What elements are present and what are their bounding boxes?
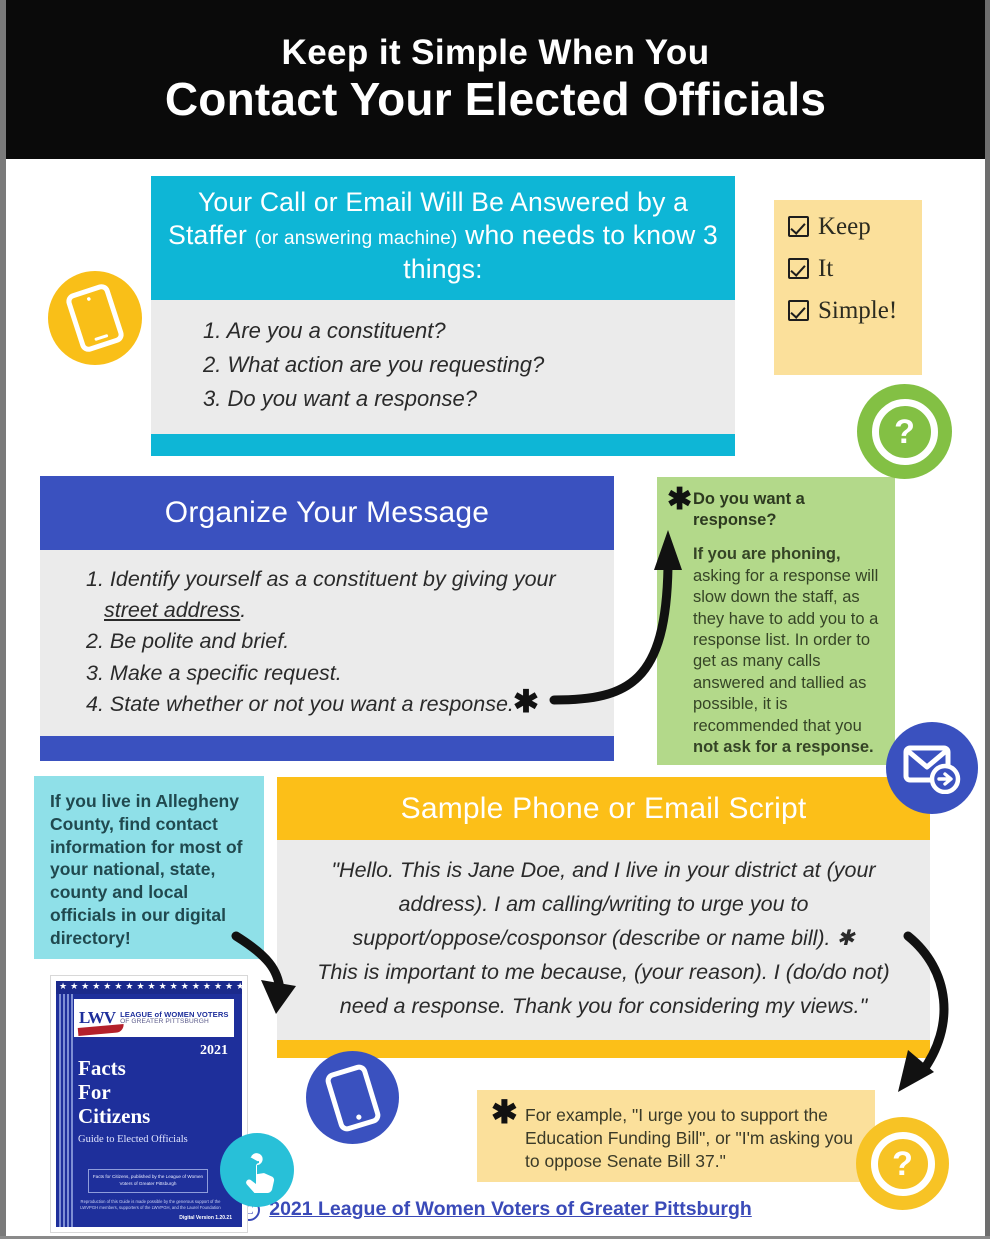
- list-item: 3. Do you want a response?: [203, 382, 735, 416]
- email-send-icon: [886, 722, 978, 814]
- booklet-cover: ★★★★★★★★★★★★★★★★★★★★★★ LWV LEAGUE of WOM…: [56, 981, 242, 1227]
- phone-icon: [48, 271, 142, 365]
- checklist-row[interactable]: It: [788, 256, 922, 281]
- copyright-link[interactable]: 2021 League of Women Voters of Greater P…: [269, 1198, 752, 1221]
- lwv-org-name: LEAGUE of WOMEN VOTERS OF GREATER PITTSB…: [120, 1011, 229, 1026]
- checkbox-checked-icon[interactable]: [788, 258, 809, 279]
- three-things-title-paren: (or answering machine): [255, 228, 458, 249]
- keep-it-simple-checklist: Keep It Simple!: [774, 200, 922, 375]
- header-line-1: Keep it Simple When You: [282, 34, 710, 71]
- example-note-card: ✱ For example, "I urge you to support th…: [477, 1090, 875, 1182]
- lwv-org-line2: OF GREATER PITTSBURGH: [120, 1019, 229, 1026]
- checklist-label: Keep: [818, 214, 871, 239]
- facts-for-citizens-booklet[interactable]: ★★★★★★★★★★★★★★★★★★★★★★ LWV LEAGUE of WOM…: [50, 975, 248, 1233]
- booklet-title: Facts For Citizens: [78, 1057, 150, 1129]
- checklist-row[interactable]: Simple!: [788, 298, 922, 323]
- booklet-title-line2: For: [78, 1081, 150, 1105]
- sample-script-footer-band: [277, 1040, 930, 1058]
- three-things-header: Your Call or Email Will Be Answered by a…: [151, 176, 735, 300]
- three-things-list: 1. Are you a constituent? 2. What action…: [151, 314, 735, 416]
- response-note-body: If you are phoning, asking for a respons…: [693, 544, 885, 758]
- click-hand-icon[interactable]: [220, 1133, 294, 1207]
- script-line: support/oppose/cosponsor (describe or na…: [295, 922, 912, 956]
- example-note-text: For example, "I urge you to support the …: [525, 1104, 863, 1173]
- question-mark-icon: ?: [857, 384, 952, 479]
- arrow-to-booklet: [228, 928, 308, 1018]
- phone-icon: [306, 1051, 399, 1144]
- question-mark-glyph: ?: [871, 1132, 935, 1196]
- script-line: need a response. Thank you for consideri…: [295, 990, 912, 1024]
- asterisk-marker-organize: ✱: [513, 686, 539, 717]
- list-item-suffix: .: [240, 598, 246, 622]
- booklet-title-line3: Citizens: [78, 1105, 150, 1129]
- booklet-stripes: [59, 994, 73, 1227]
- script-line: This is important to me because, (your r…: [295, 956, 912, 990]
- list-item-prefix: 1. Identify yourself as a constituent by…: [86, 567, 556, 591]
- response-note-bold-end: not ask for a response.: [693, 738, 874, 756]
- window-frame-left: [0, 0, 6, 1239]
- question-mark-icon: ?: [856, 1117, 949, 1210]
- organize-footer-band: [40, 736, 614, 761]
- page-title: Contact Your Elected Officials: [165, 74, 826, 126]
- sample-script-body: "Hello. This is Jane Doe, and I live in …: [277, 840, 930, 1040]
- script-line: "Hello. This is Jane Doe, and I live in …: [295, 854, 912, 888]
- booklet-stars-band: ★★★★★★★★★★★★★★★★★★★★★★: [56, 981, 242, 994]
- arrow-to-response-note: [534, 512, 694, 712]
- list-item-underlined: street address: [104, 598, 240, 622]
- response-note-title: Do you want a response?: [693, 489, 885, 530]
- booklet-fine-print: Reproduction of this Guide is made possi…: [78, 1199, 223, 1212]
- sample-script-card: Sample Phone or Email Script "Hello. Thi…: [277, 777, 930, 1058]
- list-item: 2. Be polite and brief.: [86, 626, 594, 657]
- booklet-title-line1: Facts: [78, 1057, 150, 1081]
- list-item: 1. Are you a constituent?: [203, 314, 735, 348]
- booklet-publisher-note: Facts for Citizens, published by the Lea…: [88, 1169, 208, 1193]
- sample-script-header: Sample Phone or Email Script: [277, 777, 930, 840]
- script-line: address). I am calling/writing to urge y…: [295, 888, 912, 922]
- window-frame-right: [985, 0, 990, 1239]
- page-header: Keep it Simple When You Contact Your Ele…: [6, 0, 985, 159]
- checkbox-checked-icon[interactable]: [788, 216, 809, 237]
- asterisk-marker-example: ✱: [491, 1096, 518, 1128]
- booklet-subtitle: Guide to Elected Officials: [78, 1133, 188, 1146]
- checkbox-checked-icon[interactable]: [788, 300, 809, 321]
- three-things-body: 1. Are you a constituent? 2. What action…: [151, 300, 735, 434]
- booklet-version: Digital Version 1.20.21: [179, 1215, 232, 1221]
- allegheny-note-text: If you live in Allegheny County, find co…: [50, 790, 248, 949]
- three-things-card: Your Call or Email Will Be Answered by a…: [151, 176, 735, 456]
- checklist-label: Simple!: [818, 298, 897, 323]
- arrow-to-example-note: [892, 930, 982, 1110]
- list-item: 1. Identify yourself as a constituent by…: [86, 564, 594, 626]
- checklist-row[interactable]: Keep: [788, 214, 922, 239]
- three-things-footer-band: [151, 434, 735, 456]
- response-note-lead: If you are phoning,: [693, 545, 841, 563]
- asterisk-marker-response: ✱: [667, 485, 692, 515]
- infographic-page: Keep it Simple When You Contact Your Ele…: [0, 0, 990, 1239]
- response-note-mid: asking for a response will slow down the…: [693, 567, 878, 735]
- question-mark-glyph: ?: [872, 399, 938, 465]
- booklet-year: 2021: [200, 1043, 228, 1059]
- organize-header: Organize Your Message: [40, 476, 614, 550]
- list-item: 2. What action are you requesting?: [203, 348, 735, 382]
- checklist-label: It: [818, 256, 833, 281]
